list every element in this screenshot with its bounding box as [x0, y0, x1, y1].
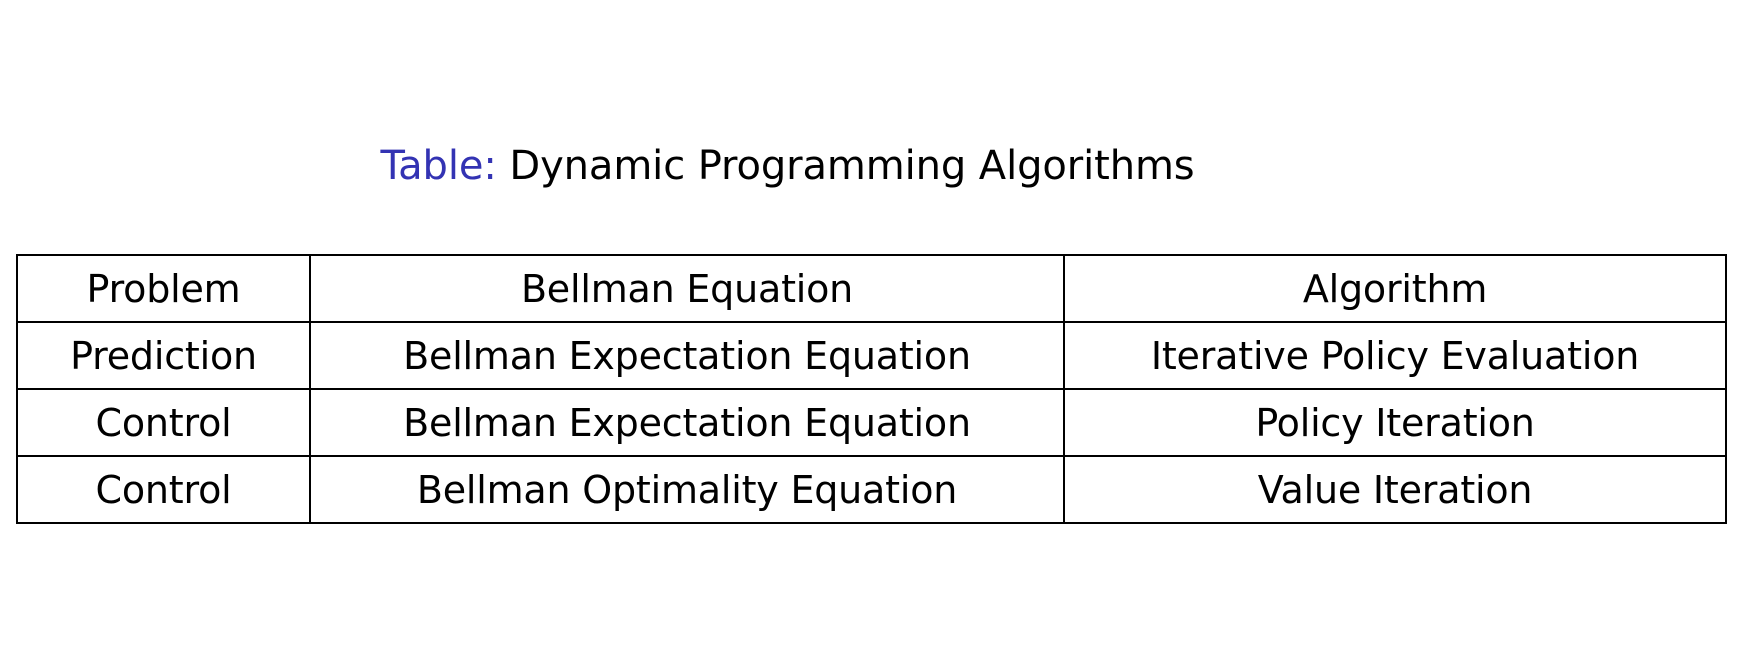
table-caption: Table: Dynamic Programming Algorithms [0, 143, 1575, 189]
table-row: Prediction Bellman Expectation Equation … [17, 322, 1726, 389]
cell-problem: Control [17, 389, 310, 456]
cell-problem: Prediction [17, 322, 310, 389]
cell-problem: Control [17, 456, 310, 523]
cell-algorithm: Policy Iteration [1064, 389, 1726, 456]
slide-canvas: Table: Dynamic Programming Algorithms Pr… [0, 0, 1742, 663]
column-header-bellman-equation: Bellman Equation [310, 255, 1064, 322]
table-caption-text: Dynamic Programming Algorithms [497, 143, 1195, 189]
cell-bellman-equation: Bellman Expectation Equation [310, 389, 1064, 456]
column-header-problem: Problem [17, 255, 310, 322]
table-row: Control Bellman Expectation Equation Pol… [17, 389, 1726, 456]
cell-algorithm: Iterative Policy Evaluation [1064, 322, 1726, 389]
table-header-row: Problem Bellman Equation Algorithm [17, 255, 1726, 322]
table-caption-keyword: Table: [380, 143, 496, 189]
column-header-algorithm: Algorithm [1064, 255, 1726, 322]
cell-bellman-equation: Bellman Optimality Equation [310, 456, 1064, 523]
table-row: Control Bellman Optimality Equation Valu… [17, 456, 1726, 523]
table-container: Problem Bellman Equation Algorithm Predi… [16, 254, 1725, 524]
cell-bellman-equation: Bellman Expectation Equation [310, 322, 1064, 389]
dynamic-programming-algorithms-table: Problem Bellman Equation Algorithm Predi… [16, 254, 1727, 524]
cell-algorithm: Value Iteration [1064, 456, 1726, 523]
